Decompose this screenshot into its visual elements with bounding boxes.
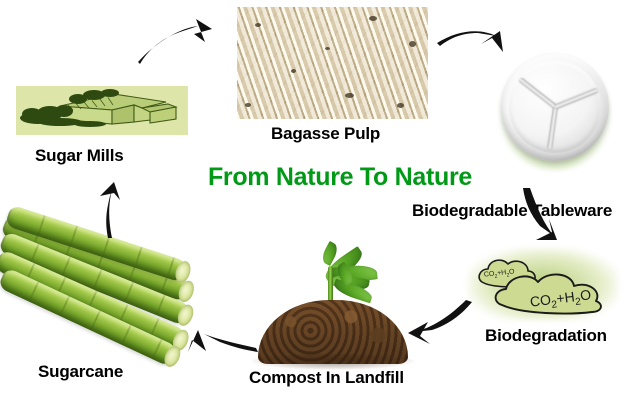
arrow-mills-to-bagasse-head <box>194 19 212 42</box>
arrow-mills-to-bagasse <box>138 26 198 64</box>
arrow-bagasse-to-tableware-head <box>481 31 503 52</box>
cycle-arrows <box>0 0 640 400</box>
arrow-compost-to-sugarcane-head <box>188 330 206 352</box>
arrow-tableware-to-biodeg <box>523 188 554 236</box>
arrow-bagasse-to-tableware <box>437 31 496 46</box>
arrow-compost-to-sugarcane <box>204 334 258 352</box>
arrow-biodeg-to-compost-head <box>408 322 430 344</box>
